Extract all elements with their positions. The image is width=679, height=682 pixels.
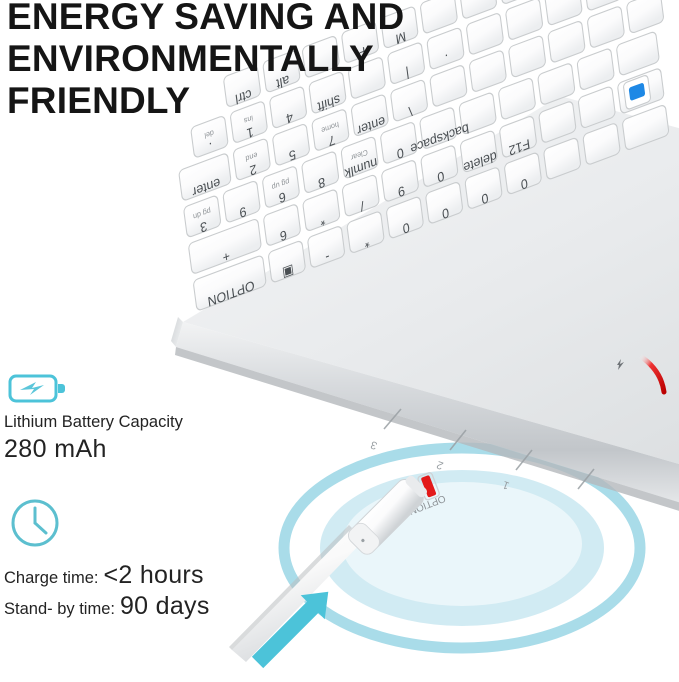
charge-time-value: <2 hours bbox=[103, 561, 203, 590]
standby-time-row: Stand- by time: 90 days bbox=[4, 592, 210, 621]
battery-caption: Lithium Battery Capacity bbox=[4, 411, 183, 434]
page-title: ENERGY SAVING AND ENVIRONMENTALLY FRIEND… bbox=[7, 0, 527, 122]
clock-icon bbox=[8, 497, 66, 553]
charge-time-row: Charge time: <2 hours bbox=[4, 561, 210, 590]
battery-terminal bbox=[58, 384, 65, 393]
spec-battery-capacity: Lithium Battery Capacity 280 mAh bbox=[0, 372, 183, 464]
spec-charge-and-standby: Charge time: <2 hours Stand- by time: 90… bbox=[0, 497, 210, 621]
standby-time-value: 90 days bbox=[120, 592, 210, 621]
standby-time-label: Stand- by time: bbox=[4, 600, 115, 619]
charge-time-label: Charge time: bbox=[4, 569, 98, 588]
arrow-icon bbox=[246, 580, 341, 675]
battery-value: 280 mAh bbox=[4, 435, 183, 464]
product-feature-graphic: ENERGY SAVING AND ENVIRONMENTALLY FRIEND… bbox=[0, 0, 679, 682]
clock-minute-hand bbox=[35, 523, 46, 533]
battery-charging-icon bbox=[8, 372, 66, 405]
battery-bolt-icon bbox=[20, 382, 44, 395]
